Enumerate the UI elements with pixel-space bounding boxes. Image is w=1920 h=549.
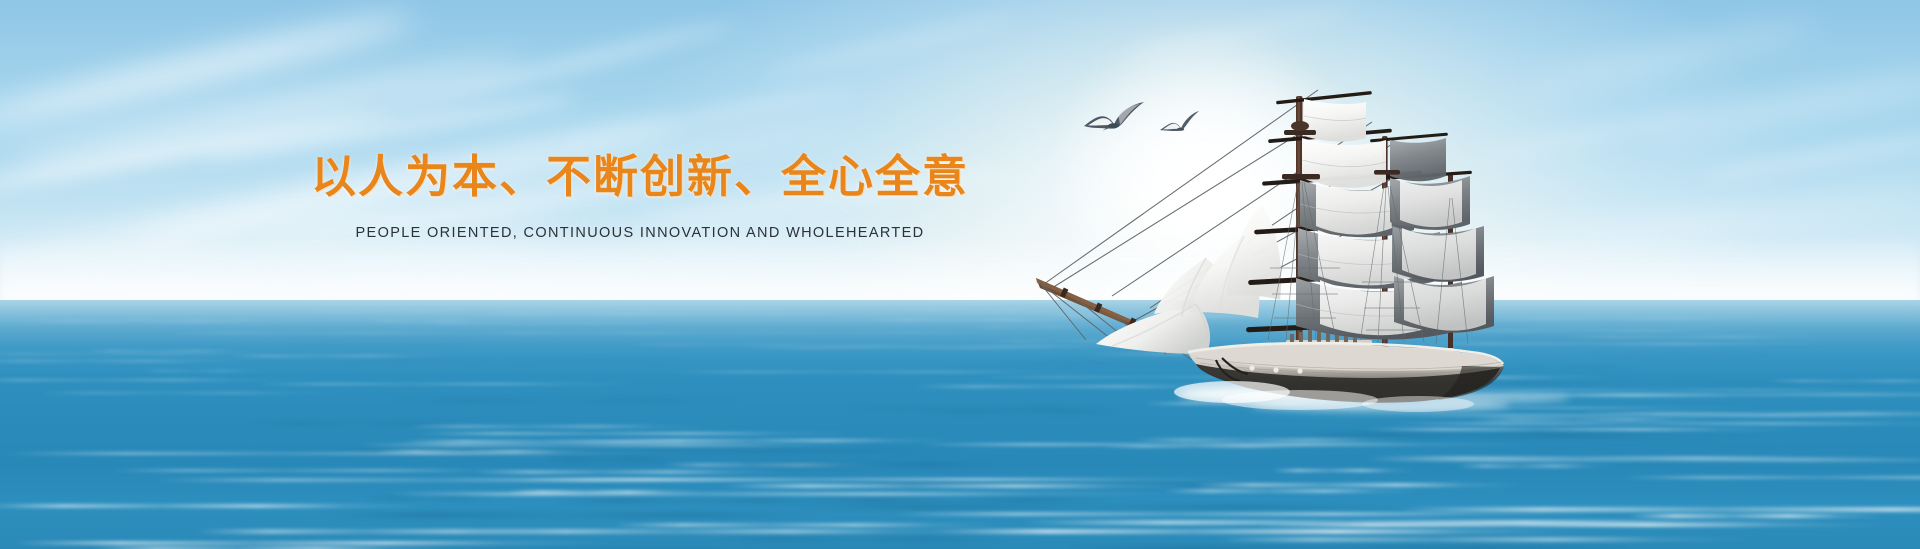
headline-block: 以人为本、不断创新、全心全意 PEOPLE ORIENTED, CONTINUO… bbox=[200, 150, 1080, 241]
page-subtitle: PEOPLE ORIENTED, CONTINUOUS INNOVATION A… bbox=[200, 225, 1080, 241]
page-title: 以人为本、不断创新、全心全意 bbox=[200, 150, 1080, 203]
seagull-large-icon bbox=[1082, 100, 1146, 142]
tall-ship bbox=[1000, 78, 1520, 418]
sea-depth-shading bbox=[0, 300, 1920, 549]
seagull-small-icon bbox=[1158, 110, 1200, 140]
hero-banner: 以人为本、不断创新、全心全意 PEOPLE ORIENTED, CONTINUO… bbox=[0, 0, 1920, 549]
aft-square-sails bbox=[1390, 138, 1494, 333]
